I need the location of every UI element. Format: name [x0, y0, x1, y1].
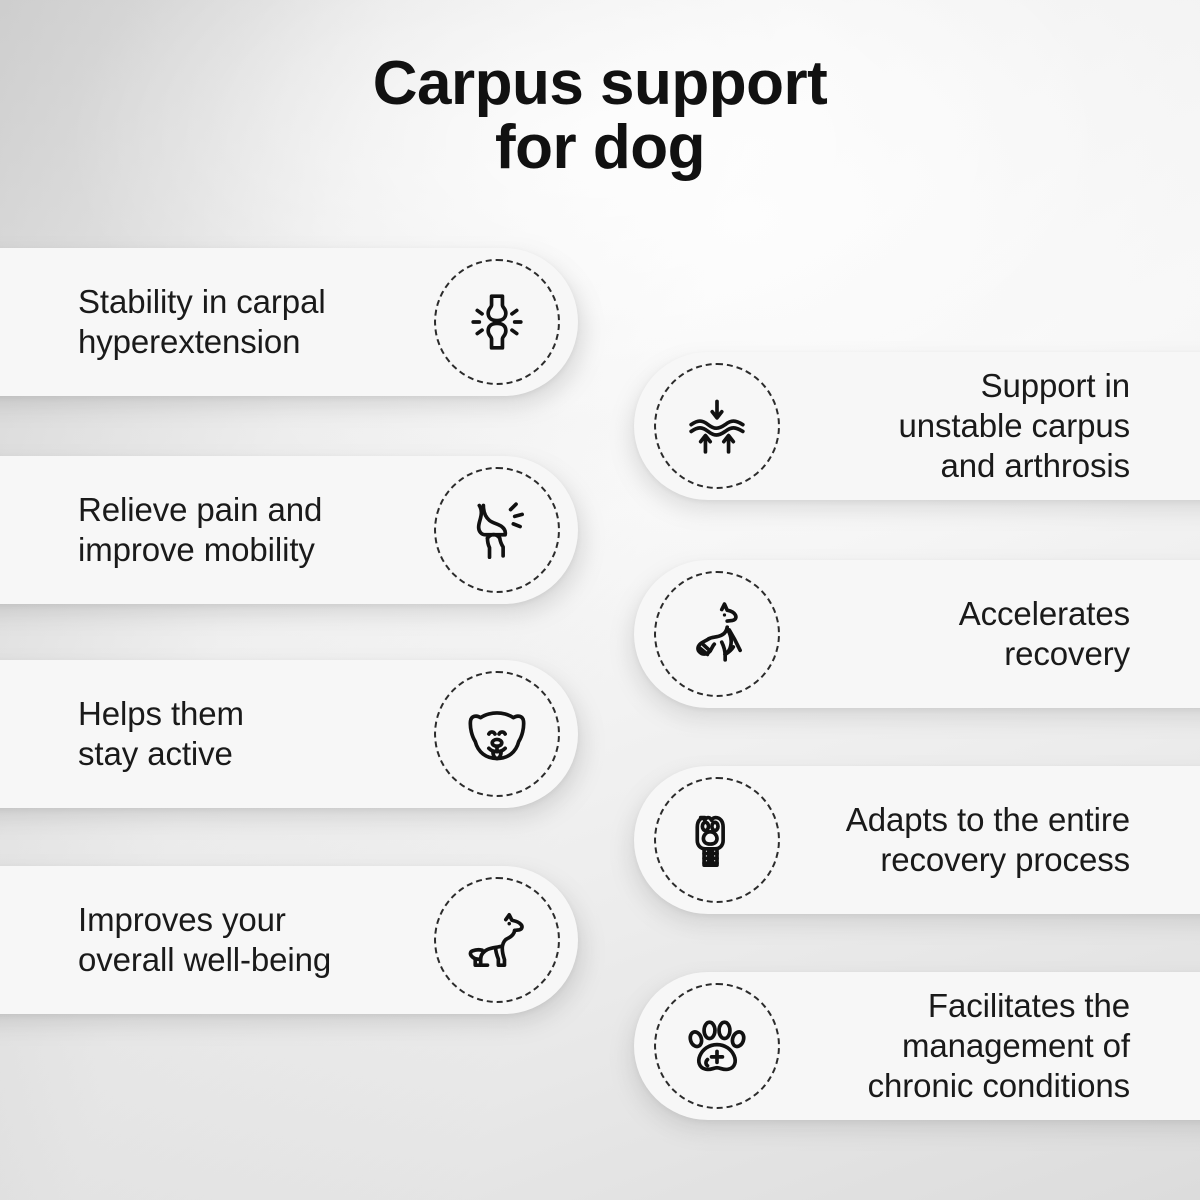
benefit-text: Accelerates recovery: [780, 594, 1130, 675]
page-title: Carpus support for dog: [0, 52, 1200, 180]
benefit-card-right-1[interactable]: Support in unstable carpus and arthrosis: [634, 352, 1200, 500]
compression-support-icon: [654, 363, 780, 489]
benefit-card-right-3[interactable]: Adapts to the entire recovery process: [634, 766, 1200, 914]
happy-dog-face-icon: [434, 671, 560, 797]
infographic-page: Carpus support for dog Stability in carp…: [0, 0, 1200, 1200]
benefit-text: Support in unstable carpus and arthrosis: [780, 366, 1130, 487]
knee-joint-pain-icon: [434, 467, 560, 593]
benefit-card-right-2[interactable]: Accelerates recovery: [634, 560, 1200, 708]
benefit-card-left-3[interactable]: Helps them stay active: [0, 660, 578, 808]
benefit-text: Stability in carpal hyperextension: [78, 282, 434, 363]
sitting-dog-icon: [434, 877, 560, 1003]
bandaged-paw-icon: [654, 777, 780, 903]
paw-medical-cross-icon: [654, 983, 780, 1109]
joint-pain-icon: [434, 259, 560, 385]
benefit-card-left-2[interactable]: Relieve pain and improve mobility: [0, 456, 578, 604]
benefit-text: Adapts to the entire recovery process: [780, 800, 1130, 881]
benefit-text: Improves your overall well-being: [78, 900, 434, 981]
benefit-card-left-1[interactable]: Stability in carpal hyperextension: [0, 248, 578, 396]
bandaged-dog-leg-icon: [654, 571, 780, 697]
benefit-card-right-4[interactable]: Facilitates the management of chronic co…: [634, 972, 1200, 1120]
benefit-text: Relieve pain and improve mobility: [78, 490, 434, 571]
benefit-text: Facilitates the management of chronic co…: [780, 986, 1130, 1107]
benefit-text: Helps them stay active: [78, 694, 434, 775]
benefit-card-left-4[interactable]: Improves your overall well-being: [0, 866, 578, 1014]
